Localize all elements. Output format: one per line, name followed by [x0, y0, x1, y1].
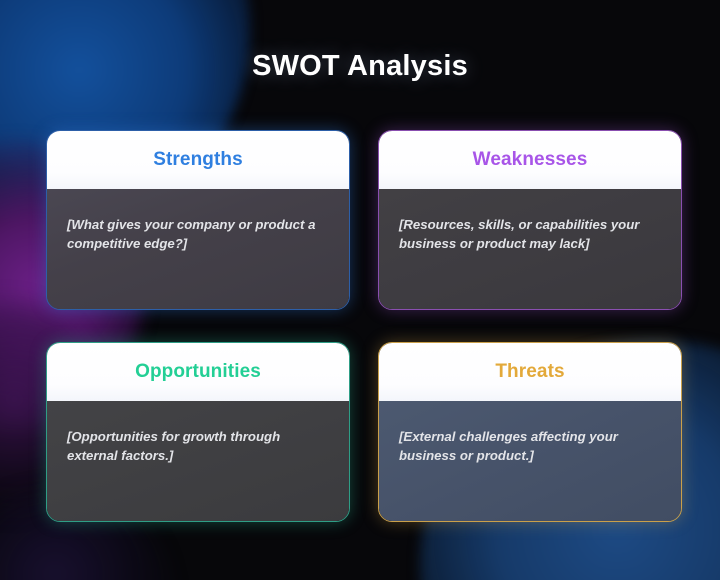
swot-card-body-opportunities: [Opportunities for growth through extern…	[47, 401, 349, 521]
swot-card-header-opportunities: Opportunities	[47, 343, 349, 401]
swot-card-text-opportunities: [Opportunities for growth through extern…	[67, 427, 329, 465]
swot-card-threats[interactable]: Threats [External challenges affecting y…	[378, 342, 682, 522]
swot-card-weaknesses[interactable]: Weaknesses [Resources, skills, or capabi…	[378, 130, 682, 310]
swot-card-header-threats: Threats	[379, 343, 681, 401]
swot-card-title-strengths: Strengths	[153, 149, 243, 171]
swot-card-text-weaknesses: [Resources, skills, or capabilities your…	[399, 215, 661, 253]
swot-card-body-weaknesses: [Resources, skills, or capabilities your…	[379, 189, 681, 309]
swot-card-text-threats: [External challenges affecting your busi…	[399, 427, 661, 465]
swot-card-title-threats: Threats	[495, 361, 564, 383]
swot-card-body-strengths: [What gives your company or product a co…	[47, 189, 349, 309]
swot-card-title-weaknesses: Weaknesses	[473, 149, 588, 171]
swot-analysis-slide: SWOT Analysis Strengths [What gives your…	[0, 0, 720, 580]
swot-card-text-strengths: [What gives your company or product a co…	[67, 215, 329, 253]
page-title: SWOT Analysis	[0, 50, 720, 83]
swot-card-body-threats: [External challenges affecting your busi…	[379, 401, 681, 521]
swot-card-header-weaknesses: Weaknesses	[379, 131, 681, 189]
swot-card-title-opportunities: Opportunities	[135, 361, 261, 383]
swot-quadrant-grid: Strengths [What gives your company or pr…	[46, 130, 682, 530]
swot-card-opportunities[interactable]: Opportunities [Opportunities for growth …	[46, 342, 350, 522]
swot-card-header-strengths: Strengths	[47, 131, 349, 189]
swot-card-strengths[interactable]: Strengths [What gives your company or pr…	[46, 130, 350, 310]
